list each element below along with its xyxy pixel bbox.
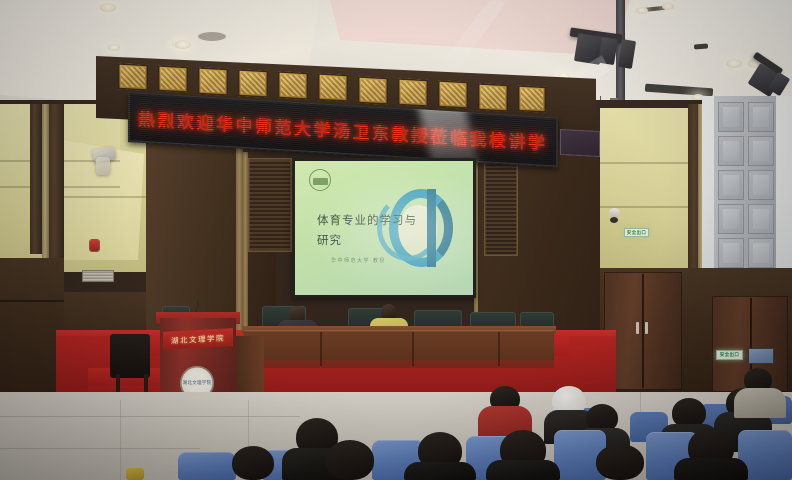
floor-seam-2 bbox=[0, 448, 200, 449]
gold-panel-5 bbox=[278, 71, 308, 100]
cctv-camera bbox=[609, 208, 620, 217]
screen-glow bbox=[295, 161, 473, 295]
downlight-6 bbox=[662, 3, 674, 10]
downlight-2 bbox=[108, 44, 120, 51]
audience-head-10 bbox=[596, 444, 644, 480]
gray-tile-6 bbox=[748, 170, 774, 200]
downlight-4 bbox=[175, 40, 191, 49]
gold-panel-4 bbox=[238, 69, 268, 98]
wall-monitor-right bbox=[748, 348, 774, 364]
wall-column-dark-left2 bbox=[48, 104, 64, 264]
gray-tile-8 bbox=[748, 204, 774, 234]
gold-panel-11 bbox=[518, 85, 546, 112]
door-handle-right-2[interactable] bbox=[645, 322, 648, 334]
wall-vent-left bbox=[82, 270, 114, 282]
audience-shoulders-11 bbox=[674, 458, 748, 480]
audience-shoulders-8 bbox=[404, 462, 476, 480]
gold-panel-10 bbox=[478, 83, 508, 112]
audience-head-7 bbox=[326, 440, 374, 480]
podium-sign: 湖北文理学院 bbox=[163, 328, 233, 350]
exit-sign-upper-right: 安全出口 bbox=[624, 228, 649, 237]
wall-plaque-right bbox=[560, 129, 600, 157]
gold-panel-9 bbox=[438, 80, 468, 109]
audience-head-12 bbox=[232, 446, 274, 480]
podium-emblem-label: 湖北文理学院 bbox=[183, 380, 212, 386]
exit-sign-lower-right: 安全出口 bbox=[716, 350, 743, 360]
audience-shoulders-5 bbox=[734, 388, 786, 418]
cctv-dome bbox=[610, 217, 618, 223]
door-right-split bbox=[642, 274, 644, 388]
wall-speaker-left-body bbox=[96, 157, 110, 175]
gray-tile-7 bbox=[718, 204, 744, 234]
gold-panel-2 bbox=[158, 65, 188, 93]
head-table-seam-1 bbox=[320, 332, 322, 366]
downlight-5 bbox=[636, 7, 648, 14]
gray-tile-4 bbox=[748, 136, 774, 166]
wall-panel-seam-r1 bbox=[600, 162, 692, 164]
wainscot-left bbox=[0, 258, 64, 392]
head-table-seam-3 bbox=[498, 332, 500, 366]
floor-object-yellow bbox=[126, 468, 144, 480]
podium-sign-label: 湖北文理学院 bbox=[171, 332, 225, 346]
gray-tile-5 bbox=[718, 170, 744, 200]
audience-shoulders-9 bbox=[486, 460, 560, 480]
gray-tile-1 bbox=[718, 102, 744, 132]
projection-screen: 体育专业的学习与 研究 华中师范大学 教授 bbox=[295, 161, 473, 295]
fire-alarm-pull[interactable] bbox=[90, 240, 99, 251]
gray-tile-10 bbox=[748, 238, 774, 268]
exit-sign-upper-label: 安全出口 bbox=[627, 230, 647, 236]
exit-sign-lower-label: 安全出口 bbox=[720, 352, 740, 358]
stage-side-chair bbox=[110, 334, 150, 378]
ceiling-diffuser bbox=[198, 32, 226, 41]
gold-panel-7 bbox=[358, 76, 388, 105]
lecture-hall-photo: 安全出口 安全出口 热烈欢迎华中师范大学汤卫东教授莅临我校讲学 bbox=[0, 0, 792, 480]
gray-tile-3 bbox=[718, 136, 744, 166]
ceiling-vent-3 bbox=[694, 44, 708, 50]
louver-panel-left bbox=[248, 158, 292, 252]
gold-panel-1 bbox=[118, 63, 148, 91]
gold-panel-3 bbox=[198, 67, 228, 96]
head-table-front bbox=[244, 332, 554, 368]
downlight-7 bbox=[726, 59, 742, 68]
gray-tile-2 bbox=[748, 102, 774, 132]
stage-side-table bbox=[236, 336, 264, 398]
head-table-seam-2 bbox=[412, 332, 414, 366]
gold-panel-6 bbox=[318, 73, 348, 102]
wall-panel-seam-3 bbox=[64, 196, 146, 198]
gray-pilaster-light-gap-r bbox=[776, 96, 792, 296]
audience-seat-mid-1 bbox=[178, 452, 236, 480]
wall-column-dark-left bbox=[30, 104, 42, 254]
downlight-1 bbox=[100, 3, 116, 12]
wainscot-seam-left bbox=[0, 300, 64, 302]
floor-seam-1 bbox=[0, 416, 300, 417]
gray-tile-9 bbox=[718, 238, 744, 268]
wall-column-light-left bbox=[42, 104, 49, 262]
floor-seam-3 bbox=[120, 400, 121, 480]
gray-pilaster-light-gap-l bbox=[702, 96, 714, 296]
louver-panel-right2 bbox=[484, 160, 518, 256]
door-handle-right[interactable] bbox=[636, 322, 639, 334]
gold-panel-8 bbox=[398, 78, 428, 107]
